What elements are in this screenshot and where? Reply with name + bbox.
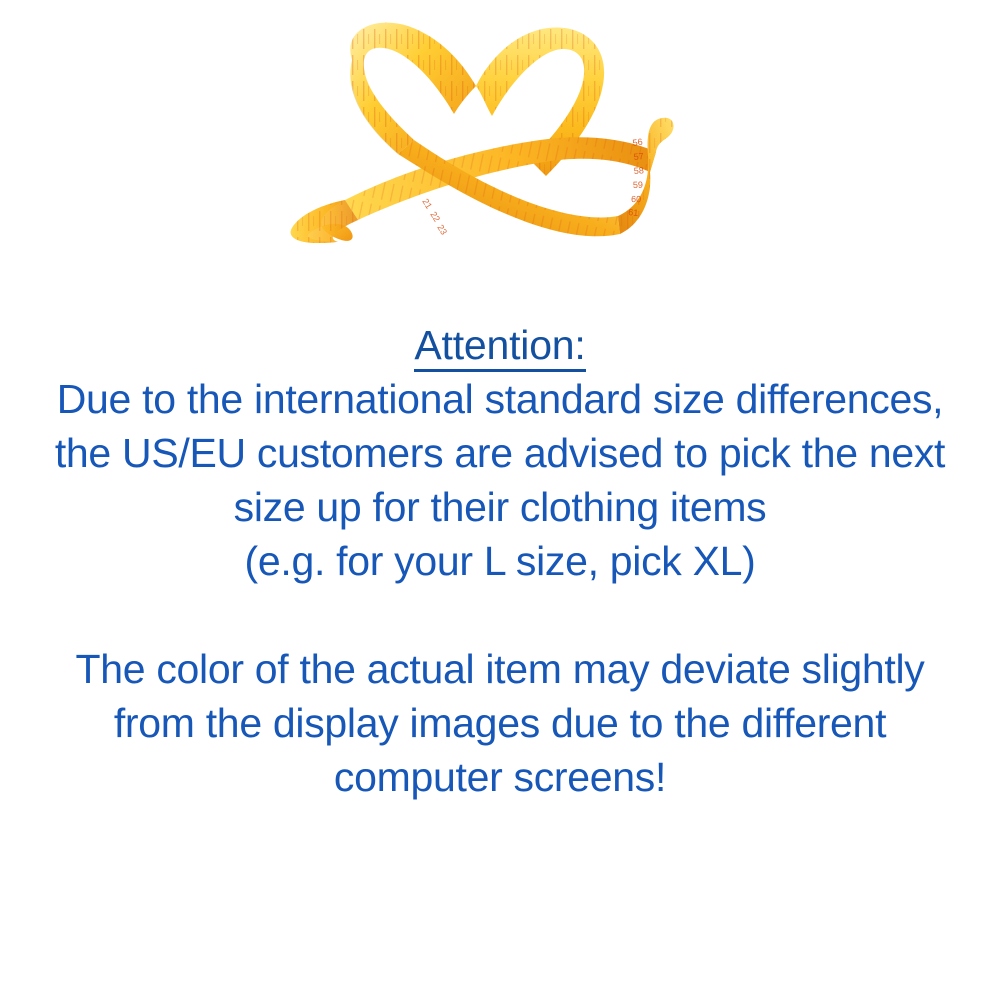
- svg-text:60: 60: [631, 194, 641, 204]
- svg-text:22: 22: [428, 210, 442, 224]
- sizing-advice-line-1: Due to the international standard size d…: [0, 372, 1000, 426]
- color-disclaimer-line-2: from the display images due to the diffe…: [0, 696, 1000, 750]
- color-disclaimer-line-3: computer screens!: [0, 750, 1000, 804]
- attention-heading-text: Attention:: [414, 322, 585, 372]
- size-notice-page: 56 57 58 59 60 61 21 22 23 Attention: Du…: [0, 0, 1000, 1000]
- size-notice-text: Attention: Due to the international stan…: [0, 318, 1000, 804]
- color-disclaimer-paragraph: The color of the actual item may deviate…: [0, 642, 1000, 804]
- svg-text:56: 56: [632, 137, 643, 148]
- paragraph-spacer: [0, 588, 1000, 642]
- svg-text:23: 23: [435, 223, 449, 237]
- svg-text:61: 61: [628, 207, 639, 218]
- attention-heading: Attention:: [0, 318, 1000, 372]
- color-disclaimer-line-1: The color of the actual item may deviate…: [0, 642, 1000, 696]
- tape-measure-heart-image: 56 57 58 59 60 61 21 22 23: [0, 0, 1000, 270]
- svg-text:21: 21: [420, 197, 434, 211]
- sizing-advice-paragraph: Due to the international standard size d…: [0, 372, 1000, 588]
- svg-text:58: 58: [633, 165, 644, 176]
- sizing-advice-line-2: the US/EU customers are advised to pick …: [0, 426, 1000, 480]
- svg-text:59: 59: [633, 180, 643, 190]
- sizing-advice-line-4: (e.g. for your L size, pick XL): [0, 534, 1000, 588]
- sizing-advice-line-3: size up for their clothing items: [0, 480, 1000, 534]
- svg-text:57: 57: [633, 151, 644, 162]
